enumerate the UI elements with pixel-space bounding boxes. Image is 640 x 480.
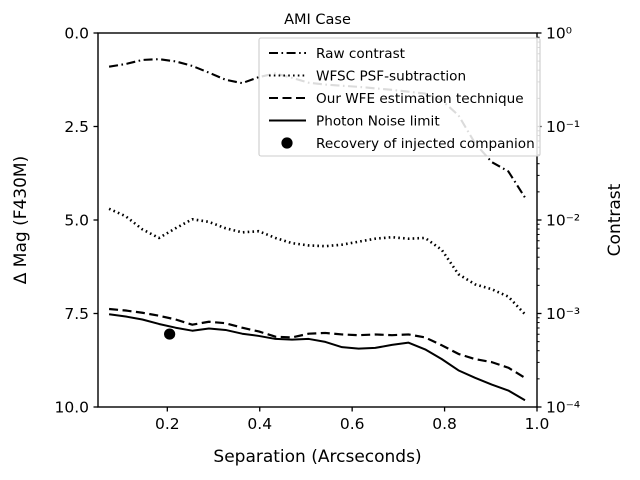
legend-label-1: WFSC PSF-subtraction (316, 69, 466, 85)
x-tick-label-4: 1.0 (525, 415, 550, 433)
marker-0-0 (164, 328, 175, 339)
series-line-3 (109, 314, 525, 400)
chart-title: AMI Case (284, 12, 351, 28)
legend-label-4: Recovery of injected companion (316, 136, 535, 152)
y-tick-label-left-3: 7.5 (64, 305, 89, 323)
chart-plot: 0.20.40.60.81.00.02.55.07.510.010⁰10⁻¹10… (0, 0, 640, 480)
y-axis-label-right: Contrast (605, 183, 625, 256)
y-tick-label-right-1: 10⁻¹ (546, 118, 580, 136)
series-line-1 (109, 209, 525, 314)
y-tick-label-left-4: 10.0 (54, 399, 89, 417)
x-tick-label-3: 0.8 (432, 415, 457, 433)
figure-canvas: 0.20.40.60.81.00.02.55.07.510.010⁰10⁻¹10… (0, 0, 640, 480)
x-axis-label: Separation (Arcseconds) (213, 447, 421, 467)
y-tick-label-right-4: 10⁻⁴ (546, 399, 580, 417)
legend-label-3: Photon Noise limit (316, 114, 440, 130)
y-tick-label-right-0: 10⁰ (546, 25, 572, 43)
legend-item-4[interactable]: Recovery of injected companion (281, 136, 534, 152)
legend: Raw contrastWFSC PSF-subtractionOur WFE … (259, 38, 540, 156)
y-axis-label-left: Δ Mag (F430M) (11, 156, 31, 284)
y-tick-label-left-0: 0.0 (64, 25, 89, 43)
x-tick-label-2: 0.6 (340, 415, 365, 433)
x-tick-label-0: 0.2 (155, 415, 180, 433)
legend-label-0: Raw contrast (316, 46, 405, 62)
y-tick-label-left-1: 2.5 (64, 118, 89, 136)
legend-label-2: Our WFE estimation technique (316, 91, 524, 107)
y-tick-label-right-2: 10⁻² (546, 212, 580, 230)
y-tick-label-left-2: 5.0 (64, 212, 89, 230)
series-line-2 (109, 309, 525, 378)
legend-sample-point (281, 137, 292, 148)
x-tick-label-1: 0.4 (247, 415, 272, 433)
y-tick-label-right-3: 10⁻³ (546, 305, 580, 323)
